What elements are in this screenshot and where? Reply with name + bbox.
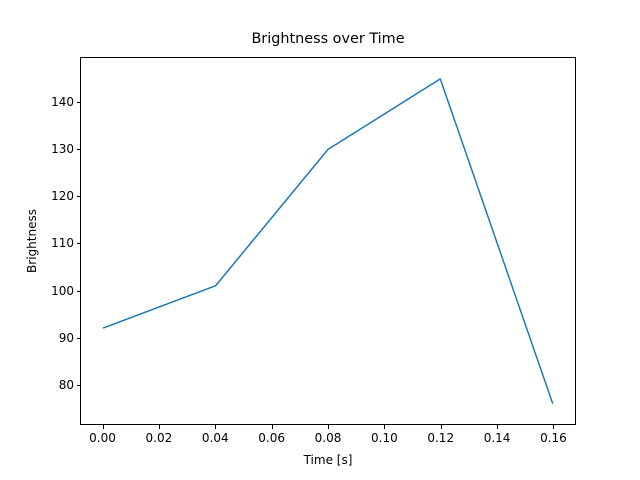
y-tick-mark [77, 102, 81, 103]
x-tick-mark [328, 425, 329, 429]
x-tick-mark [215, 425, 216, 429]
y-tick-mark [77, 291, 81, 292]
y-tick-label: 100 [34, 284, 74, 298]
y-tick-mark [77, 196, 81, 197]
y-tick-mark [77, 149, 81, 150]
plot-area [81, 58, 575, 424]
x-tick-label: 0.16 [540, 431, 567, 445]
x-tick-mark [441, 425, 442, 429]
x-tick-label: 0.10 [371, 431, 398, 445]
x-tick-mark [159, 425, 160, 429]
plot-axes [80, 57, 576, 425]
x-tick-mark [103, 425, 104, 429]
chart-title: Brightness over Time [80, 30, 576, 48]
y-tick-label: 90 [34, 331, 74, 345]
x-axis-label: Time [s] [80, 453, 576, 467]
x-tick-label: 0.04 [202, 431, 229, 445]
x-tick-label: 0.08 [315, 431, 342, 445]
x-tick-mark [553, 425, 554, 429]
y-tick-mark [77, 243, 81, 244]
matplotlib-figure: Brightness over Time Brightness 0.000.02… [0, 0, 640, 480]
x-tick-label: 0.02 [146, 431, 173, 445]
x-tick-label: 0.00 [89, 431, 116, 445]
y-tick-label: 120 [34, 189, 74, 203]
y-tick-label: 130 [34, 142, 74, 156]
y-tick-label: 80 [34, 378, 74, 392]
x-tick-label: 0.06 [258, 431, 285, 445]
data-line-brightness [103, 79, 552, 403]
x-tick-label: 0.12 [427, 431, 454, 445]
x-tick-mark [384, 425, 385, 429]
x-tick-mark [272, 425, 273, 429]
y-tick-label: 110 [34, 236, 74, 250]
x-tick-mark [497, 425, 498, 429]
y-tick-mark [77, 338, 81, 339]
x-tick-label: 0.14 [484, 431, 511, 445]
y-tick-label: 140 [34, 95, 74, 109]
y-tick-mark [77, 385, 81, 386]
